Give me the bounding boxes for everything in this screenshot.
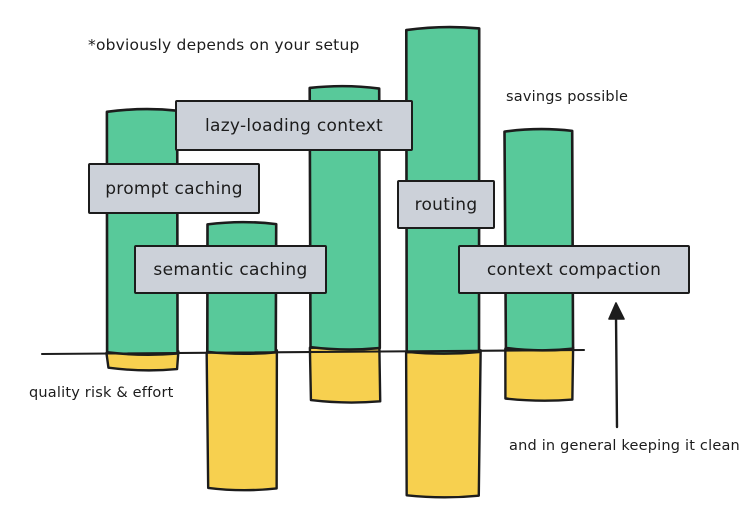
technique-label-text: context compaction: [487, 260, 661, 280]
technique-label-lazy-loading-context[interactable]: lazy-loading context: [175, 100, 413, 151]
bar-positive-prompt-caching: [107, 109, 178, 355]
annotation-arrow-shaft: [616, 315, 617, 427]
diagram-canvas: *obviously depends on your setup savings…: [0, 0, 750, 514]
keeping-it-clean-note: and in general keeping it clean: [509, 438, 740, 454]
technique-label-text: semantic caching: [153, 260, 307, 280]
technique-label-text: lazy-loading context: [205, 116, 383, 136]
setup-note: *obviously depends on your setup: [88, 36, 360, 54]
technique-label-prompt-caching[interactable]: prompt caching: [88, 163, 260, 214]
quality-risk-label: quality risk & effort: [29, 385, 174, 401]
bar-negative-semantic-caching: [207, 350, 277, 490]
technique-label-context-compaction[interactable]: context compaction: [458, 245, 690, 294]
bar-positive-context-compaction: [505, 129, 574, 350]
bar-negative-routing: [406, 350, 481, 497]
technique-label-text: prompt caching: [105, 179, 243, 199]
bar-negative-context-compaction: [505, 347, 573, 400]
annotation-arrow-head: [609, 303, 624, 319]
technique-label-routing[interactable]: routing: [397, 180, 495, 229]
technique-label-text: routing: [415, 195, 478, 215]
bar-negative-lazy-loading-context: [310, 346, 380, 402]
savings-possible-label: savings possible: [506, 89, 628, 105]
technique-label-semantic-caching[interactable]: semantic caching: [134, 245, 327, 294]
